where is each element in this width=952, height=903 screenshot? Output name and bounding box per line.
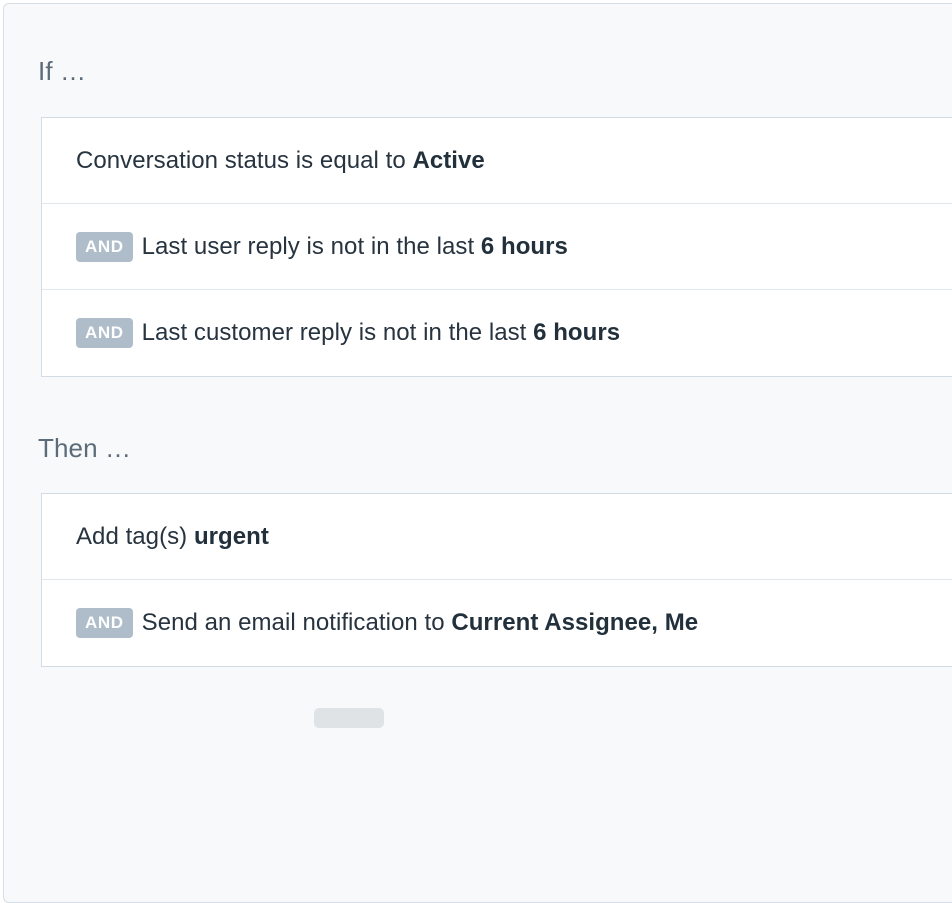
action-label: Send an email notification to (142, 609, 452, 636)
action-text: Add tag(s) urgent (76, 523, 269, 551)
and-connector-badge: AND (76, 608, 133, 638)
if-section-heading: If … (38, 56, 86, 87)
condition-row[interactable]: Conversation status is equal to Active (42, 118, 952, 204)
condition-value: Active (412, 147, 484, 174)
action-value: urgent (194, 523, 269, 550)
if-conditions-card: Conversation status is equal to Active A… (41, 117, 952, 377)
and-connector-badge: AND (76, 318, 133, 348)
condition-value: 6 hours (481, 233, 568, 260)
condition-row[interactable]: AND Last customer reply is not in the la… (42, 290, 952, 376)
automation-rule-panel: If … Conversation status is equal to Act… (3, 3, 952, 903)
condition-label: Last user reply is not in the last (142, 233, 481, 260)
then-actions-card: Add tag(s) urgent AND Send an email noti… (41, 493, 952, 667)
action-label: Add tag(s) (76, 523, 194, 550)
condition-text: Conversation status is equal to Active (76, 147, 485, 175)
condition-text: Last customer reply is not in the last 6… (142, 319, 621, 347)
action-row[interactable]: Add tag(s) urgent (42, 494, 952, 580)
and-connector-badge: AND (76, 232, 133, 262)
condition-value: 6 hours (533, 319, 620, 346)
clipped-bottom-control[interactable] (314, 708, 384, 728)
condition-label: Conversation status is equal to (76, 147, 412, 174)
then-section-heading: Then … (38, 433, 131, 464)
action-value: Current Assignee, Me (451, 609, 698, 636)
action-text: Send an email notification to Current As… (142, 609, 699, 637)
condition-row[interactable]: AND Last user reply is not in the last 6… (42, 204, 952, 290)
condition-label: Last customer reply is not in the last (142, 319, 533, 346)
condition-text: Last user reply is not in the last 6 hou… (142, 233, 568, 261)
action-row[interactable]: AND Send an email notification to Curren… (42, 580, 952, 666)
